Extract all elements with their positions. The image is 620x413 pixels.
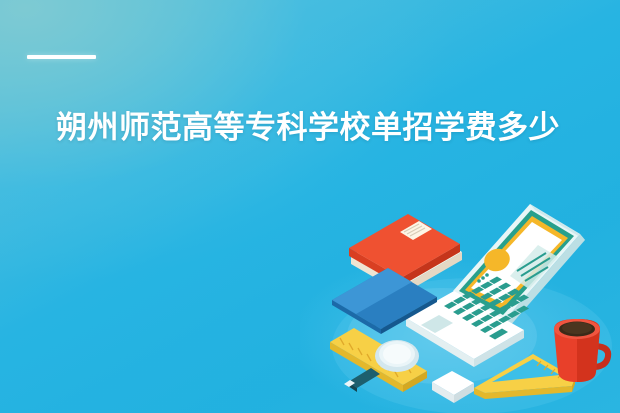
page-title: 朔州师范高等专科学校单招学费多少 (56, 108, 560, 148)
isometric-education-illustration (322, 196, 620, 413)
accent-rule (27, 55, 96, 59)
banner-root: 朔州师范高等专科学校单招学费多少 (0, 0, 620, 413)
